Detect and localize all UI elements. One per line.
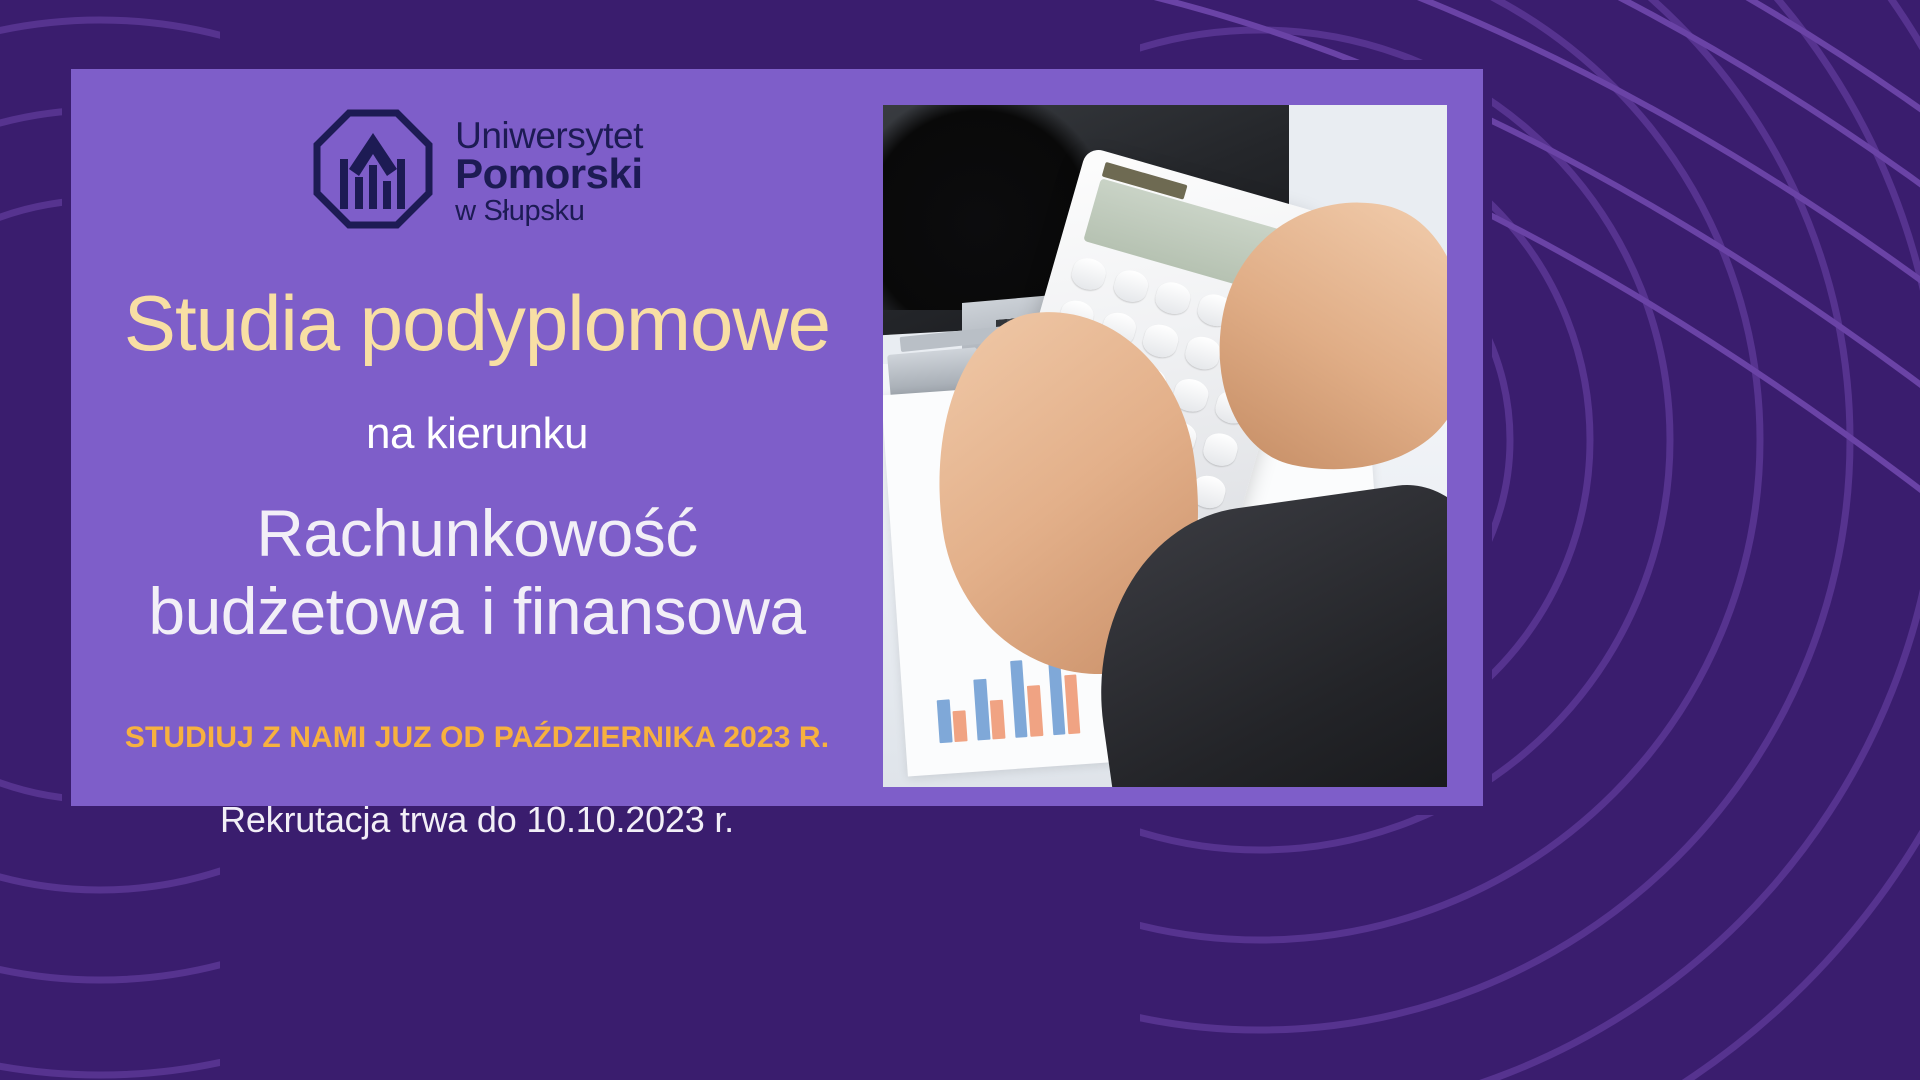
logo-wordmark: Uniwersytet Pomorski w Słupsku bbox=[455, 118, 643, 225]
cta-text: STUDIUJ Z NAMI JUZ OD PAŹDZIERNIKA 2023 … bbox=[125, 721, 829, 755]
logo-line-pomorski: Pomorski bbox=[455, 153, 643, 194]
university-logo: Uniwersytet Pomorski w Słupsku bbox=[311, 107, 643, 236]
promo-card: Uniwersytet Pomorski w Słupsku Studia po… bbox=[62, 60, 1492, 815]
octagon-bar-chart-arrow-icon bbox=[311, 107, 435, 236]
course-name: Rachunkowość budżetowa i finansowa bbox=[148, 495, 805, 651]
course-name-line2: budżetowa i finansowa bbox=[148, 574, 805, 648]
text-column: Uniwersytet Pomorski w Słupsku Studia po… bbox=[71, 69, 883, 806]
photo-frame bbox=[875, 97, 1455, 795]
headline: Studia podyplomowe bbox=[124, 278, 830, 369]
calculator-photo bbox=[883, 105, 1447, 787]
course-name-line1: Rachunkowość bbox=[256, 496, 698, 570]
recruitment-deadline: Rekrutacja trwa do 10.10.2023 r. bbox=[220, 799, 734, 841]
logo-line-uniwersytet: Uniwersytet bbox=[455, 118, 643, 154]
subtitle: na kierunku bbox=[366, 409, 588, 459]
logo-line-w-slupsku: w Słupsku bbox=[455, 197, 643, 225]
